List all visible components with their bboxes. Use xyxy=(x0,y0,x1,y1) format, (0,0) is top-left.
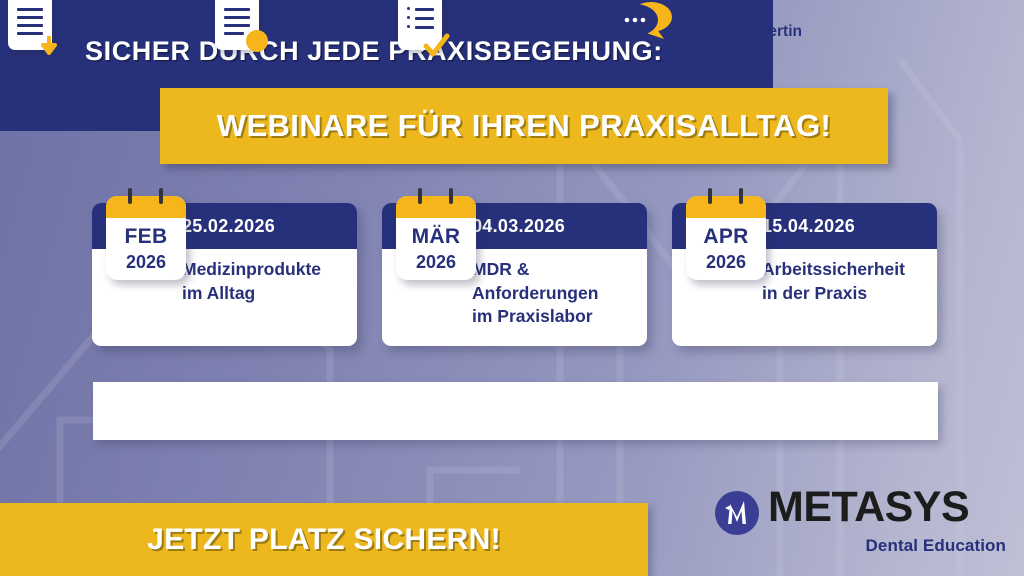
calendar-tab xyxy=(396,196,476,218)
feature-item: Teilnahme- zertifikat xyxy=(215,0,350,58)
poster-canvas: SICHER DURCH JEDE PRAXISBEGEHUNG: WEBINA… xyxy=(0,0,1024,576)
document-download-icon xyxy=(8,0,52,50)
event-date: 04.03.2026 xyxy=(472,216,565,237)
cta-banner[interactable]: JETZT PLATZ SICHERN! xyxy=(0,503,648,576)
event-title-line: Anforderungen xyxy=(472,282,635,306)
calendar-ring-icon xyxy=(159,188,163,204)
feature-label-line: Rechtssichere xyxy=(62,2,168,22)
calendar-ring-icon xyxy=(418,188,422,204)
calendar-ring-icon xyxy=(128,188,132,204)
subheadline-text: WEBINARE FÜR IHREN PRAXISALLTAG! xyxy=(160,88,888,164)
brand-logo: METASYS Dental Education xyxy=(714,488,1010,558)
feature-label-line: Vorlagen xyxy=(62,22,168,42)
logo-tagline: Dental Education xyxy=(866,536,1006,556)
logo-wordmark: METASYS xyxy=(768,486,969,529)
feature-label: Rechtssichere Vorlagen xyxy=(62,2,168,42)
feature-label-line: mit der Expertin xyxy=(684,22,802,42)
calendar-ring-icon xyxy=(708,188,712,204)
event-date: 25.02.2026 xyxy=(182,216,275,237)
download-arrow-icon xyxy=(37,34,61,58)
feature-item: Rechtssichere Vorlagen xyxy=(8,0,168,58)
feature-item: Checklisten QM-Dokumente xyxy=(398,0,567,58)
calendar-chip: FEB 2026 xyxy=(106,196,186,280)
feature-label-line: Teilnahme- xyxy=(269,2,350,22)
feature-label: Live-Q&A mit der Expertin xyxy=(684,2,802,42)
event-title-line: im Praxislabor xyxy=(472,305,635,329)
event-title-line: im Alltag xyxy=(182,282,345,306)
calendar-ring-icon xyxy=(449,188,453,204)
checklist-check-icon xyxy=(398,0,442,50)
calendar-month: APR xyxy=(686,218,766,247)
cta-label: JETZT PLATZ SICHERN! xyxy=(0,503,648,576)
checkmark-icon xyxy=(422,32,450,60)
feature-label: Checklisten QM-Dokumente xyxy=(452,2,567,42)
calendar-month: MÄR xyxy=(396,218,476,247)
event-title-line: MDR & xyxy=(472,258,635,282)
calendar-chip: MÄR 2026 xyxy=(396,196,476,280)
seal-badge-icon xyxy=(246,30,268,52)
metasys-circle-m-icon xyxy=(714,490,760,536)
feature-label-line: Checklisten xyxy=(452,2,567,22)
event-title-line: Medizinprodukte xyxy=(182,258,345,282)
feature-bar xyxy=(93,382,938,440)
feature-label: Teilnahme- zertifikat xyxy=(269,2,350,42)
feature-label-line: QM-Dokumente xyxy=(452,22,567,42)
event-title-line: Arbeitssicherheit xyxy=(762,258,925,282)
calendar-tab xyxy=(106,196,186,218)
calendar-month: FEB xyxy=(106,218,186,247)
calendar-year: 2026 xyxy=(396,247,476,271)
speech-bubbles-icon xyxy=(610,0,674,45)
page-headline: SICHER DURCH JEDE PRAXISBEGEHUNG: xyxy=(85,36,663,67)
document-seal-icon xyxy=(215,0,259,50)
calendar-tab xyxy=(686,196,766,218)
event-title-line: in der Praxis xyxy=(762,282,925,306)
feature-label-line: Live-Q&A xyxy=(684,2,802,22)
calendar-chip: APR 2026 xyxy=(686,196,766,280)
calendar-year: 2026 xyxy=(686,247,766,271)
calendar-year: 2026 xyxy=(106,247,186,271)
feature-label-line: zertifikat xyxy=(269,22,350,42)
calendar-ring-icon xyxy=(739,188,743,204)
event-date: 15.04.2026 xyxy=(762,216,855,237)
subheadline-banner: WEBINARE FÜR IHREN PRAXISALLTAG! xyxy=(160,88,888,164)
feature-item: Live-Q&A mit der Expertin xyxy=(610,0,802,58)
